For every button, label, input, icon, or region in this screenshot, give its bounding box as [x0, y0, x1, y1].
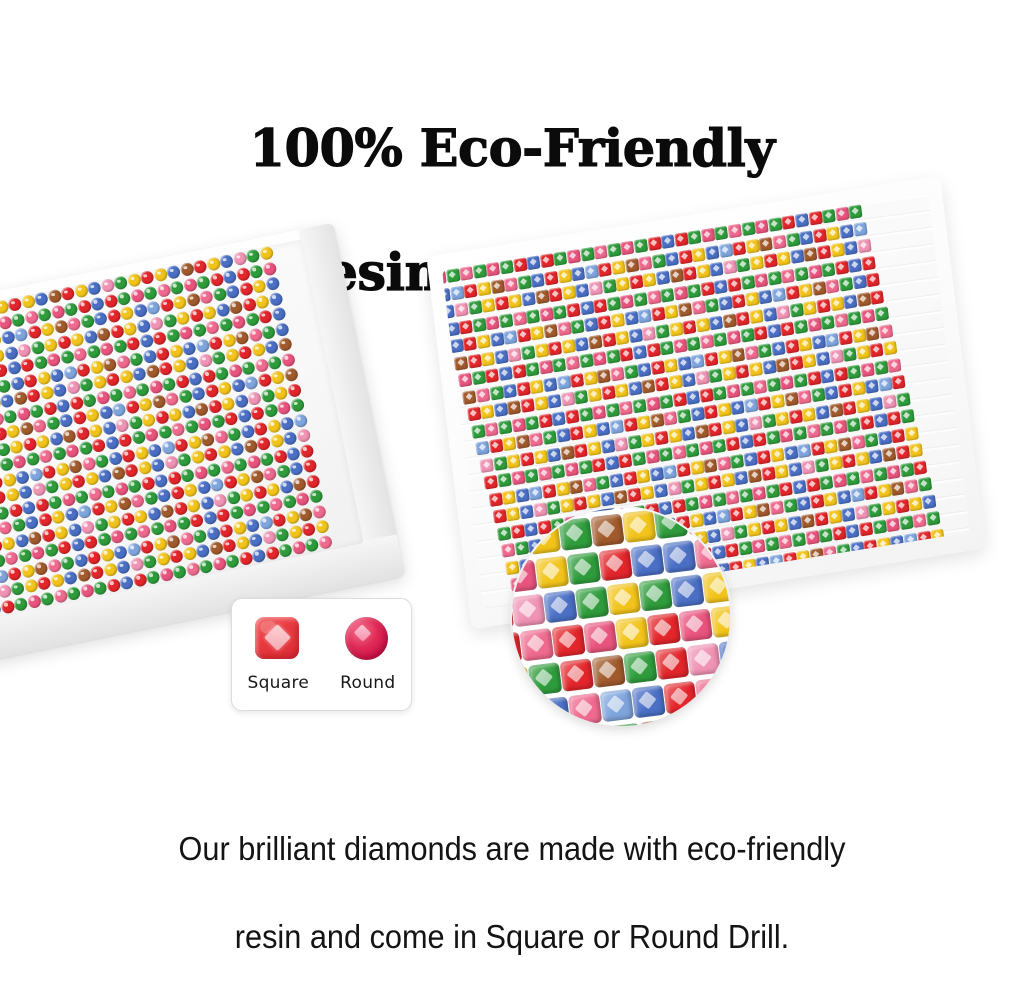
bead [730, 453, 744, 468]
bead [597, 315, 611, 330]
bead [5, 487, 20, 502]
bead [35, 433, 50, 448]
bead [79, 314, 94, 329]
bead [775, 411, 789, 426]
bead [887, 411, 901, 426]
bead [75, 362, 90, 377]
bead [611, 260, 625, 275]
bead [60, 555, 75, 570]
bead [801, 513, 815, 528]
bead [552, 411, 566, 426]
bead [255, 294, 270, 309]
bead [495, 296, 509, 311]
bead [45, 416, 60, 431]
bead [788, 409, 802, 424]
bead [120, 448, 135, 463]
bead [163, 455, 178, 470]
bead [741, 221, 755, 236]
bead [181, 340, 196, 355]
bead [673, 338, 687, 353]
bead [264, 545, 279, 560]
bead [273, 385, 288, 400]
bead [574, 389, 588, 404]
bead [709, 315, 723, 330]
bead [606, 349, 620, 364]
bead [226, 426, 241, 441]
bead [597, 368, 611, 383]
bead [38, 449, 53, 464]
bead [598, 262, 612, 277]
bead [240, 423, 255, 438]
bead [92, 374, 107, 389]
bead [776, 304, 790, 319]
bead [231, 314, 246, 329]
bead [159, 298, 174, 313]
bead [529, 432, 543, 447]
bead [641, 379, 655, 394]
bead [93, 311, 108, 326]
bead [869, 396, 883, 411]
closeup-bead [518, 508, 552, 521]
bead [137, 460, 152, 475]
closeup-bead [512, 559, 538, 593]
bead [526, 309, 540, 324]
bead [584, 317, 598, 332]
bead [734, 470, 748, 485]
bead [730, 400, 744, 415]
bead [673, 285, 687, 300]
bead [651, 253, 665, 268]
bead [298, 507, 313, 522]
bead [39, 591, 54, 606]
bead [754, 272, 768, 287]
bead [0, 505, 10, 520]
closeup-bead [638, 578, 672, 612]
bead [780, 321, 794, 336]
bead [463, 283, 477, 298]
bead [228, 299, 243, 314]
bead [721, 473, 735, 488]
bead [553, 251, 567, 266]
bead [251, 548, 266, 563]
bead [768, 217, 782, 232]
bead [92, 580, 107, 595]
bead [272, 448, 287, 463]
bead [506, 453, 520, 468]
bead [218, 523, 233, 538]
bead [257, 373, 272, 388]
bead [0, 378, 11, 393]
bead [484, 421, 498, 436]
bead [851, 381, 865, 396]
bead [102, 562, 117, 577]
bead [525, 362, 539, 377]
bead [520, 451, 534, 466]
bead [130, 493, 145, 508]
bead [747, 522, 761, 537]
bead [614, 436, 628, 451]
bead [107, 450, 122, 465]
bead [64, 507, 79, 522]
bead [619, 347, 633, 362]
bead [131, 430, 146, 445]
bead [215, 507, 230, 522]
bead [234, 330, 249, 345]
bead [857, 238, 871, 253]
bead [660, 234, 674, 249]
bead [194, 401, 209, 416]
bead [102, 357, 117, 372]
closeup-bead [535, 556, 569, 590]
closeup-bead [512, 508, 521, 524]
bead [860, 362, 874, 377]
bead [685, 443, 699, 458]
bead [224, 348, 239, 363]
bead [477, 281, 491, 296]
bead [674, 232, 688, 247]
bead [622, 470, 636, 485]
bead [602, 279, 616, 294]
bead [704, 404, 718, 419]
bead [240, 360, 255, 375]
bead [39, 385, 54, 400]
bead [247, 390, 262, 405]
bead [584, 264, 598, 279]
closeup-bead [575, 586, 609, 620]
bead [709, 262, 723, 277]
bead [578, 407, 592, 422]
bead [185, 561, 200, 576]
bead [162, 518, 177, 533]
bead [239, 487, 254, 502]
bead [798, 336, 812, 351]
bead [539, 306, 553, 321]
bead [29, 403, 44, 418]
bead [485, 315, 499, 330]
bead [803, 300, 817, 315]
bead [57, 476, 72, 491]
bead [159, 503, 174, 518]
bead [567, 249, 581, 264]
bead [497, 526, 511, 541]
bead [176, 452, 191, 467]
bead [472, 317, 486, 332]
bead [0, 599, 15, 614]
bead [51, 446, 66, 461]
bead [176, 516, 191, 531]
bead [803, 247, 817, 262]
bead [30, 545, 45, 560]
bead [777, 251, 791, 266]
bead [227, 363, 242, 378]
bead [76, 298, 91, 313]
bead [166, 264, 181, 279]
bead [561, 392, 575, 407]
bead [517, 274, 531, 289]
bead [830, 243, 844, 258]
closeup-bead [607, 582, 641, 616]
bead [139, 333, 154, 348]
bead [68, 458, 83, 473]
bead [762, 413, 776, 428]
bead [829, 349, 843, 364]
bead [909, 443, 923, 458]
bead [27, 324, 42, 339]
drill-shape-badge: Square Round [231, 598, 412, 711]
bead [717, 402, 731, 417]
bead [147, 442, 162, 457]
bead [274, 322, 289, 337]
bead [855, 451, 869, 466]
closeup-bead [630, 544, 664, 578]
bead [113, 544, 128, 559]
bead [20, 563, 35, 578]
bead [222, 269, 237, 284]
bead [23, 309, 38, 324]
round-label: Round [340, 673, 395, 693]
bead [811, 387, 825, 402]
bead [520, 398, 534, 413]
bead [555, 481, 569, 496]
bead [846, 470, 860, 485]
bead [53, 525, 68, 540]
bead [719, 243, 733, 258]
bead [677, 355, 691, 370]
bead [722, 313, 736, 328]
bead [20, 294, 35, 309]
bead [526, 255, 540, 270]
bead [882, 447, 896, 462]
bead [205, 525, 220, 540]
bead [864, 432, 878, 447]
bead [841, 507, 855, 522]
bead [738, 541, 752, 556]
bead [618, 453, 632, 468]
bead [192, 259, 207, 274]
bead [741, 275, 755, 290]
bead [111, 402, 126, 417]
bead [641, 432, 655, 447]
bead [624, 311, 638, 326]
bead [751, 539, 765, 554]
bead [873, 466, 887, 481]
bead [721, 419, 735, 434]
bead [237, 345, 252, 360]
bead [763, 306, 777, 321]
bead [580, 247, 594, 262]
bead [260, 388, 275, 403]
closeup-bead [703, 711, 730, 726]
bead [188, 307, 203, 322]
square-drill-closeup [512, 508, 730, 726]
bead [152, 331, 167, 346]
bead [73, 552, 88, 567]
bead [119, 306, 134, 321]
bead [736, 311, 750, 326]
bead [716, 456, 730, 471]
bead [34, 291, 49, 306]
bead [7, 297, 22, 312]
bead [745, 292, 759, 307]
bead [225, 553, 240, 568]
bead [865, 379, 879, 394]
bead [543, 323, 557, 338]
bead [619, 400, 633, 415]
bead [669, 268, 683, 283]
bead [727, 277, 741, 292]
bead [238, 281, 253, 296]
bead [615, 277, 629, 292]
bead [184, 356, 199, 371]
bead [70, 537, 85, 552]
bead [529, 485, 543, 500]
bead [569, 479, 583, 494]
closeup-bead [654, 508, 688, 539]
bead [772, 234, 786, 249]
bead [31, 482, 46, 497]
bead [288, 461, 303, 476]
bead [722, 366, 736, 381]
bead [494, 349, 508, 364]
bead [296, 428, 311, 443]
bead [6, 360, 21, 375]
bead [517, 328, 531, 343]
bead [68, 395, 83, 410]
bead [179, 262, 194, 277]
bead [481, 351, 495, 366]
bead [672, 392, 686, 407]
bead [283, 367, 298, 382]
bead [761, 519, 775, 534]
bead [178, 325, 193, 340]
bead [114, 417, 129, 432]
bead [778, 534, 792, 549]
bead [650, 413, 664, 428]
bead [857, 292, 871, 307]
bead [254, 357, 269, 372]
bead [144, 427, 159, 442]
bead [512, 364, 526, 379]
bead [100, 483, 115, 498]
bead [497, 472, 511, 487]
bead [766, 377, 780, 392]
bead [694, 424, 708, 439]
bead [197, 416, 212, 431]
bead [170, 422, 185, 437]
bead [503, 383, 517, 398]
bead [792, 532, 806, 547]
bead [521, 345, 535, 360]
bead [712, 438, 726, 453]
bead [249, 469, 264, 484]
bead [620, 294, 634, 309]
bead [61, 492, 76, 507]
bead [480, 404, 494, 419]
bead [56, 334, 71, 349]
bead [623, 417, 637, 432]
bead [699, 441, 713, 456]
bead [739, 487, 753, 502]
bead [564, 462, 578, 477]
bead [861, 309, 875, 324]
bead [601, 385, 615, 400]
bead [789, 355, 803, 370]
bead [807, 370, 821, 385]
bead [874, 306, 888, 321]
bead [613, 490, 627, 505]
bead [629, 274, 643, 289]
bead [678, 302, 692, 317]
bead [230, 378, 245, 393]
bead [473, 264, 487, 279]
bead [682, 319, 696, 334]
bead [125, 336, 140, 351]
bead [165, 533, 180, 548]
bead [656, 270, 670, 285]
bead [486, 262, 500, 277]
bead [248, 264, 263, 279]
bead [705, 298, 719, 313]
bead [37, 307, 52, 322]
bead [208, 335, 223, 350]
bead [192, 528, 207, 543]
bead [156, 488, 171, 503]
bead [712, 492, 726, 507]
bead [232, 251, 247, 266]
bead [139, 270, 154, 285]
bead [5, 424, 20, 439]
bead [499, 260, 513, 275]
bead [98, 405, 113, 420]
bead [828, 456, 842, 471]
bead [767, 323, 781, 338]
bead [812, 281, 826, 296]
bead [852, 328, 866, 343]
bead [847, 364, 861, 379]
bead [752, 432, 766, 447]
bead [110, 466, 125, 481]
round-gem-icon [345, 617, 388, 660]
bead [749, 309, 763, 324]
closeup-bead [685, 508, 719, 535]
bead [82, 392, 97, 407]
bead [106, 577, 121, 592]
bead [806, 477, 820, 492]
bead [46, 352, 61, 367]
bead [95, 390, 110, 405]
bead [67, 522, 82, 537]
bead [124, 463, 139, 478]
bead [589, 281, 603, 296]
bead [560, 445, 574, 460]
bead [806, 424, 820, 439]
bead [859, 522, 873, 537]
bead [233, 393, 248, 408]
bead [0, 393, 15, 408]
bead [779, 428, 793, 443]
bead [575, 283, 589, 298]
bead [135, 318, 150, 333]
bead [490, 279, 504, 294]
bead [540, 253, 554, 268]
bead [758, 343, 772, 358]
bead [225, 490, 240, 505]
bead [877, 483, 891, 498]
bead [677, 409, 691, 424]
bead [37, 512, 52, 527]
bead [744, 398, 758, 413]
bead [843, 347, 857, 362]
